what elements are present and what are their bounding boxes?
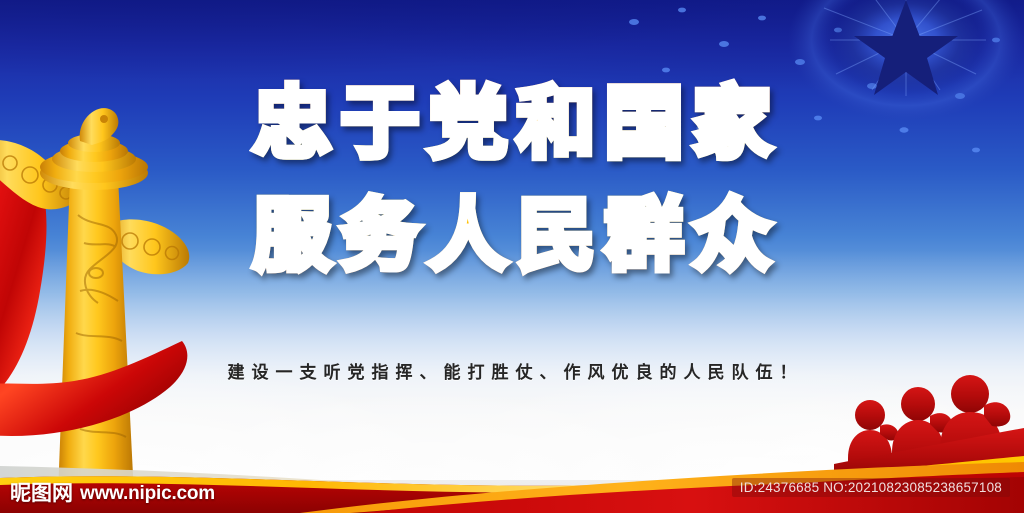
poster-canvas: 忠于党和国家 服务人民群众 建设一支听党指挥、能打胜仗、作风优良的人民队伍！	[0, 0, 1024, 513]
headline-line-2: 服务人民群众	[0, 196, 1024, 274]
five-point-star-shape	[854, 0, 958, 95]
image-id-code: ID:24376685 NO:20210823085238657108	[732, 478, 1010, 497]
sky-gradient-overlay	[0, 0, 1024, 330]
brand-watermark: 昵图网 www.nipic.com	[10, 483, 215, 504]
dragon-relief	[76, 215, 126, 437]
headline-line-2-text: 服务人民群众	[253, 191, 781, 279]
red-ribbon-upper	[0, 146, 47, 395]
footer-band: 昵图网 www.nipic.com ID:24376685 NO:2021082…	[0, 440, 1024, 513]
light-sparkles	[604, 0, 1024, 250]
headline-line-1: 忠于党和国家	[0, 84, 1024, 162]
star-emblem	[784, 0, 1024, 133]
headline-line-1-text: 忠于党和国家	[253, 79, 781, 167]
huabiao-column	[0, 95, 207, 495]
cloud-wing-left	[0, 140, 84, 209]
subtitle-slogan: 建设一支听党指挥、能打胜仗、作风优良的人民队伍！	[0, 358, 1024, 383]
headline-block: 忠于党和国家 服务人民群众	[0, 84, 1024, 284]
brand-name-cn: 昵图网	[10, 483, 73, 504]
column-plate	[40, 156, 148, 190]
crowning-beast	[80, 108, 119, 145]
red-ribbon-lower	[0, 341, 187, 436]
brand-url: www.nipic.com	[80, 484, 215, 504]
cloud-wing-right	[104, 219, 189, 274]
